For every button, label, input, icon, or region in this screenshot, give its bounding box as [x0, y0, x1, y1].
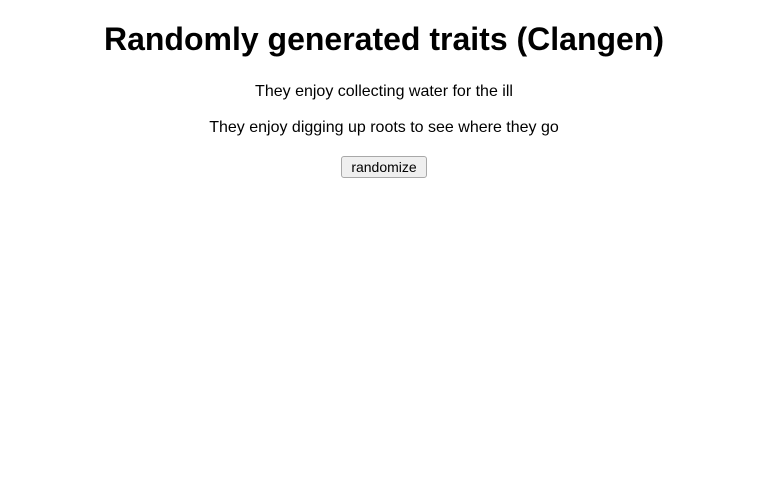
randomize-button[interactable]: randomize	[341, 156, 426, 178]
trait-line-2: They enjoy digging up roots to see where…	[8, 119, 760, 137]
trait-line-1: They enjoy collecting water for the ill	[8, 83, 760, 101]
randomize-row: randomize	[8, 156, 760, 178]
page-title: Randomly generated traits (Clangen)	[8, 8, 760, 58]
page-root: Randomly generated traits (Clangen) They…	[0, 0, 768, 480]
